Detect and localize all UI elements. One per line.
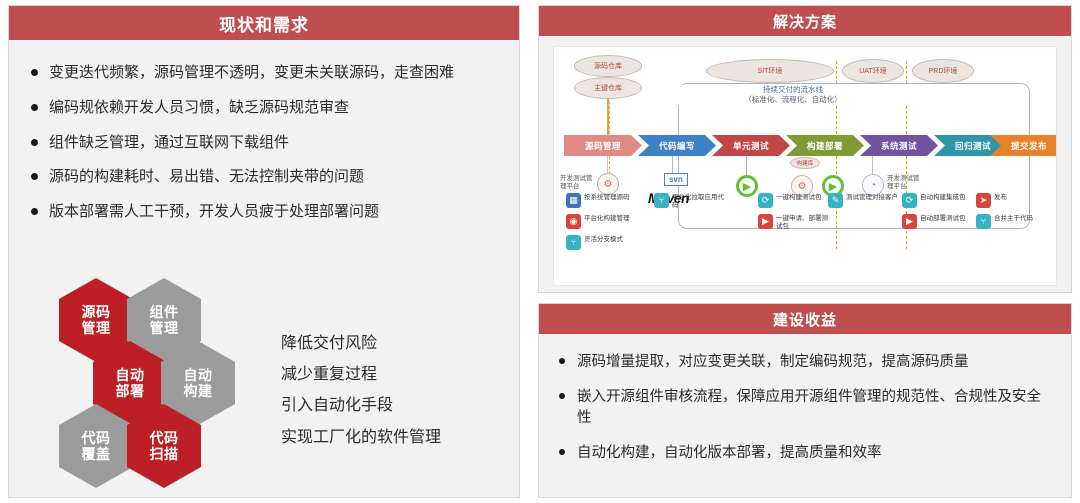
legend-column-1: ▦ 按系统管理源码 ◉ 平台化构建管理 ⑂ 灵活分支模式 (566, 193, 630, 256)
legend-label: 平台化拉取应用代码 (672, 193, 728, 210)
ellipse-uat-env: UAT环境 (842, 59, 904, 83)
hexagon-label-line2: 扫描 (150, 446, 179, 462)
hexagon-label-line1: 代码 (82, 430, 111, 446)
connector-stage1-tool (607, 156, 608, 174)
panel-solution-title: 解决方案 (539, 6, 1071, 36)
list-item: ▶ 一键申请、部署测试包 (758, 214, 832, 231)
hexagon-label-line1: 自动 (116, 367, 145, 383)
gear-icon: ⚙ (597, 173, 619, 195)
legend-label: 平台化构建管理 (584, 214, 630, 223)
slide-canvas: 现状和需求 变更迭代频繁，源码管理不透明，变更未关联源码，走查困难 编码规依赖开… (0, 0, 1080, 503)
panel-benefit-body: 源码增量提取，对应变更关联，制定编码规范，提高源码质量 嵌入开源组件审核流程，保… (539, 334, 1071, 464)
stage-system-test: 系统测试 (860, 135, 938, 156)
list-item: ⟳ 一键构建测试包 (758, 193, 832, 208)
legend-column-3: ⟳ 一键构建测试包 ▶ 一键申请、部署测试包 (758, 193, 832, 237)
status-bullet-text: 组件缺乏管理，通过互联网下载组件 (49, 134, 289, 151)
list-item: ▦ 按系统管理源码 (566, 193, 630, 208)
branch-icon: ⑂ (566, 235, 581, 250)
legend-label: 一键申请、部署测试包 (776, 214, 832, 231)
stage-source-management: 源码管理 (564, 135, 642, 156)
ellipse-build-repo-small: 构建库 (790, 157, 820, 169)
cd-title-line2: （标准化、流程化、自动化） (681, 95, 905, 105)
benefit-bullet-text: 嵌入开源组件审核流程，保障应用开源组件管理的规范性、合规性及安全性 (577, 389, 1041, 426)
legend-label: 测试管理对接客户 (846, 193, 898, 202)
list-item: ➤ 发布 (976, 193, 1033, 208)
status-bullet-text: 编码规依赖开发人员习惯，缺乏源码规范审查 (49, 99, 349, 116)
panel-benefit-title: 建设收益 (539, 304, 1071, 334)
stage-build-deploy: 构建部署 (786, 135, 864, 156)
benefit-bullet-text: 源码增量提取，对应变更关联，制定编码规范，提高源码质量 (577, 354, 969, 370)
stage-unit-test: 单元测试 (712, 135, 790, 156)
hexagon-label-line2: 管理 (150, 320, 179, 336)
list-item: 版本部署需人工干预，开发人员疲于处理部署问题 (31, 201, 501, 223)
legend-column-2: ⑂ 平台化拉取应用代码 (654, 193, 728, 216)
connector-stage5-tool (872, 156, 873, 176)
panel-solution: 解决方案 源码仓库 主键仓库 SIT环境 UAT环境 PRD环境 持 (538, 5, 1072, 293)
benefit-bullet-list: 源码增量提取，对应变更关联，制定编码规范，提高源码质量 嵌入开源组件审核流程，保… (539, 334, 1071, 464)
refresh-icon: ⟳ (758, 193, 773, 208)
list-item: ⟳ 自动构建集成包 (902, 193, 966, 208)
goal-item: 减少重复过程 (281, 359, 441, 390)
list-item: ◉ 平台化构建管理 (566, 214, 630, 229)
list-item: ⑂ 灵活分支模式 (566, 235, 630, 250)
list-item: ▶ 自动部署测试包 (902, 214, 966, 229)
list-item: 编码规依赖开发人员习惯，缺乏源码规范审查 (31, 97, 501, 119)
svn-icon: svn (664, 173, 688, 186)
legend-label: 灵活分支模式 (584, 235, 623, 244)
panel-status-and-requirements: 现状和需求 变更迭代频繁，源码管理不透明，变更未关联源码，走查困难 编码规依赖开… (8, 5, 520, 498)
goal-item: 降低交付风险 (281, 328, 441, 359)
ellipse-build-repo: 主键仓库 (574, 77, 642, 99)
hexagon-label-line2: 部署 (116, 383, 145, 399)
refresh-icon: ⟳ (902, 193, 917, 208)
hexagon-label-line1: 源码 (82, 304, 111, 320)
diagram-legend: ▦ 按系统管理源码 ◉ 平台化构建管理 ⑂ 灵活分支模式 (562, 193, 1050, 281)
status-bullet-list: 变更迭代频繁，源码管理不透明，变更未关联源码，走查困难 编码规依赖开发人员习惯，… (9, 40, 519, 223)
list-item: ⑂ 平台化拉取应用代码 (654, 193, 728, 210)
cd-title-line1: 持续交付的流水线 (681, 85, 905, 95)
ellipse-source-repo: 源码仓库 (574, 55, 642, 77)
legend-label: 自动构建集成包 (920, 193, 966, 202)
hexagon-label-line2: 管理 (82, 320, 111, 336)
hexagon-label-line2: 覆盖 (82, 446, 111, 462)
send-icon: ➤ (976, 193, 991, 208)
hexagon-cluster: 源码 管理 组件 管理 自动 部署 自动 构建 代码 覆盖 (29, 278, 269, 503)
hexagon-label-line1: 自动 (184, 367, 213, 383)
panel-status-title: 现状和需求 (9, 6, 519, 40)
list-item: ⑂ 合并主干代码 (976, 214, 1033, 229)
goal-item: 实现工厂化的软件管理 (281, 422, 441, 453)
list-item: 嵌入开源组件审核流程，保障应用开源组件管理的规范性、合规性及安全性 (559, 387, 1049, 429)
list-item: 自动化构建，自动化版本部署，提高质量和效率 (559, 443, 1049, 464)
goal-item: 引入自动化手段 (281, 390, 441, 421)
goal-text-block: 降低交付风险 减少重复过程 引入自动化手段 实现工厂化的软件管理 (281, 328, 441, 453)
ellipse-sit-env: SIT环境 (706, 59, 834, 83)
legend-label: 按系统管理源码 (584, 193, 630, 202)
list-item: 组件缺乏管理，通过互联网下载组件 (31, 132, 501, 154)
play-icon: ▶ (758, 214, 773, 229)
legend-label: 自动部署测试包 (920, 214, 966, 223)
pencil-icon: ✎ (828, 193, 843, 208)
list-item: ✎ 测试管理对接客户 (828, 193, 898, 208)
legend-label: 合并主干代码 (994, 214, 1033, 223)
list-item: 变更迭代频繁，源码管理不透明，变更未关联源码，走查困难 (31, 62, 501, 84)
legend-label: 发布 (994, 193, 1007, 202)
legend-label: 一键构建测试包 (776, 193, 822, 202)
legend-column-6: ➤ 发布 ⑂ 合并主干代码 (976, 193, 1033, 235)
ellipse-prd-env: PRD环境 (912, 59, 974, 83)
benefit-bullet-text: 自动化构建，自动化版本部署，提高质量和效率 (577, 445, 882, 461)
grid-icon: ▦ (566, 193, 581, 208)
legend-column-4: ✎ 测试管理对接客户 (828, 193, 898, 214)
status-bullet-text: 版本部署需人工干预，开发人员疲于处理部署问题 (49, 203, 379, 220)
panel-benefits: 建设收益 源码增量提取，对应变更关联，制定编码规范，提高源码质量 嵌入开源组件审… (538, 303, 1072, 498)
panel-status-body: 变更迭代频繁，源码管理不透明，变更未关联源码，走查困难 编码规依赖开发人员习惯，… (9, 40, 519, 223)
status-bullet-text: 源码的构建耗时、易出错、无法控制夹带的问题 (49, 168, 364, 185)
branch-icon: ⑂ (654, 193, 669, 208)
status-bullet-text: 变更迭代频繁，源码管理不透明，变更未关联源码，走查困难 (49, 64, 454, 81)
hexagon-label-line2: 构建 (184, 383, 213, 399)
branch-icon: ⑂ (976, 214, 991, 229)
hexagon-label-line1: 组件 (150, 304, 179, 320)
label-dev-test-platform-left: 开发测试管理平台 (560, 175, 594, 192)
legend-column-5: ⟳ 自动构建集成包 ▶ 自动部署测试包 (902, 193, 966, 235)
play-icon: ▶ (902, 214, 917, 229)
hexagon-label-line1: 代码 (150, 430, 179, 446)
target-icon: ◉ (566, 214, 581, 229)
list-item: 源码的构建耗时、易出错、无法控制夹带的问题 (31, 166, 501, 188)
list-item: 源码增量提取，对应变更关联，制定编码规范，提高源码质量 (559, 352, 1049, 373)
label-dev-test-platform-right: 开发测试管理平台 (887, 175, 921, 192)
stage-code-writing: 代码编写 (638, 135, 716, 156)
continuous-delivery-box-title: 持续交付的流水线 （标准化、流程化、自动化） (678, 85, 908, 105)
cicd-pipeline-diagram: 源码仓库 主键仓库 SIT环境 UAT环境 PRD环境 持续交付的流水线 （标准… (553, 46, 1057, 286)
